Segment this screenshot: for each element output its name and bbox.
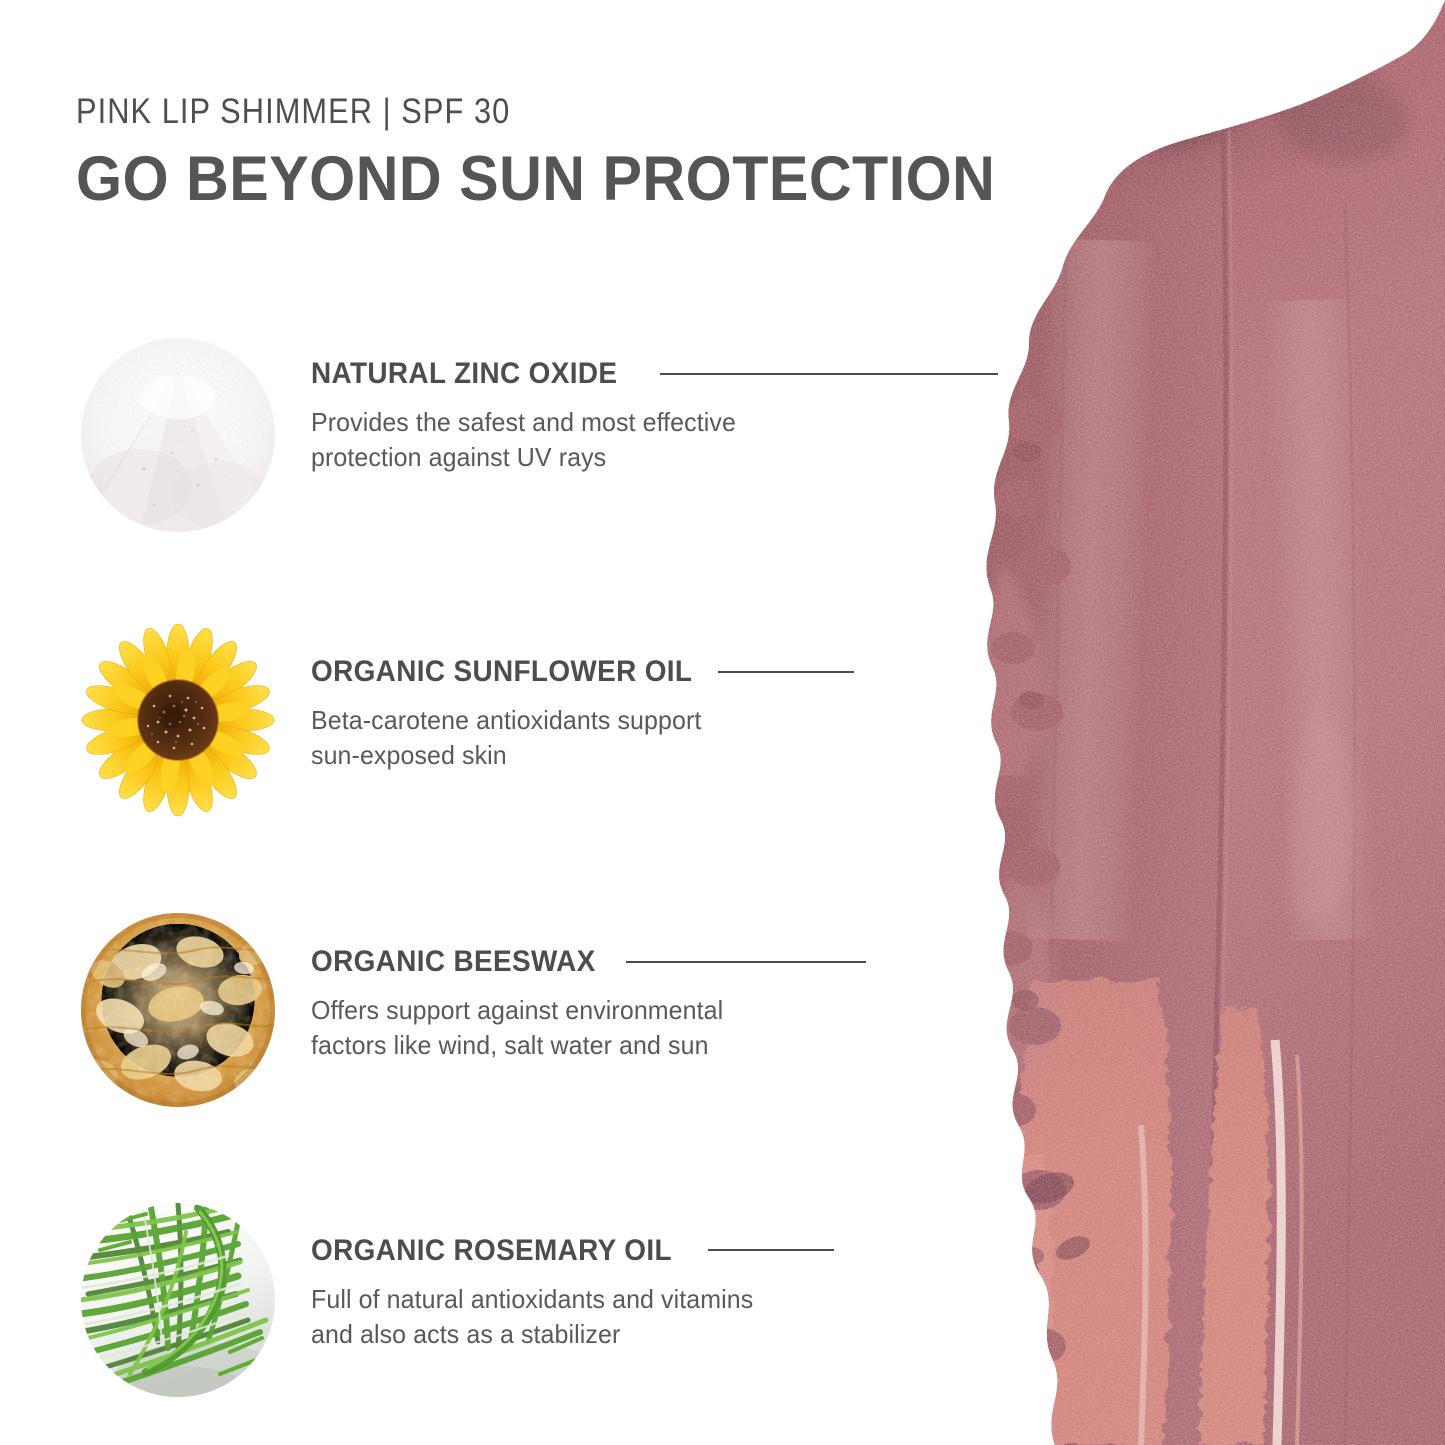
ingredient-row-organic-beeswax: ORGANIC BEESWAX Offers support against e…: [0, 912, 1445, 1112]
beeswax-image: [80, 912, 276, 1108]
sunflower-image: [80, 622, 276, 818]
leader-line: [626, 961, 866, 963]
ingredient-description: Full of natural antioxidants and vitamin…: [311, 1282, 753, 1353]
leader-line: [708, 1249, 834, 1251]
ingredient-row-organic-sunflower-oil: ORGANIC SUNFLOWER OIL Beta-carotene anti…: [0, 622, 1445, 822]
zinc-oxide-powder-image: [80, 337, 276, 533]
infographic-canvas: PINK LIP SHIMMER | SPF 30 GO BEYOND SUN …: [0, 0, 1445, 1445]
leader-line: [718, 671, 854, 673]
ingredient-description: Provides the safest and most effective p…: [311, 405, 736, 476]
ingredient-row-organic-rosemary-oil: ORGANIC ROSEMARY OIL Full of natural ant…: [0, 1202, 1445, 1402]
ingredient-title: ORGANIC SUNFLOWER OIL: [311, 655, 692, 689]
product-eyebrow: PINK LIP SHIMMER | SPF 30: [76, 92, 510, 132]
ingredient-title: NATURAL ZINC OXIDE: [311, 357, 617, 391]
ingredient-title: ORGANIC BEESWAX: [311, 945, 596, 979]
ingredient-description: Beta-carotene antioxidants support sun-e…: [311, 703, 701, 774]
page-title: GO BEYOND SUN PROTECTION: [76, 143, 995, 215]
ingredient-row-natural-zinc-oxide: NATURAL ZINC OXIDE Provides the safest a…: [0, 337, 1445, 537]
ingredient-title: ORGANIC ROSEMARY OIL: [311, 1234, 672, 1268]
leader-line: [660, 373, 998, 375]
rosemary-sprig-image: [80, 1202, 276, 1398]
ingredient-description: Offers support against environmental fac…: [311, 993, 723, 1064]
